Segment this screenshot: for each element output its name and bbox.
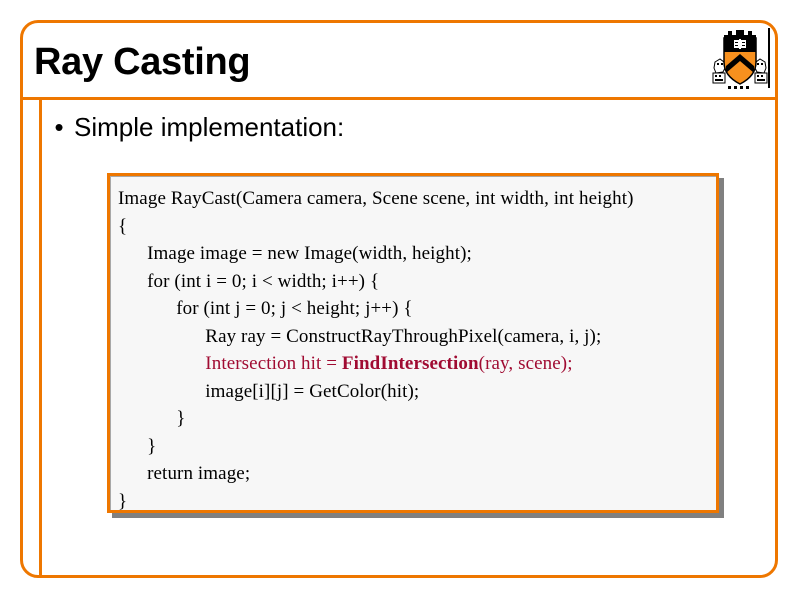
code-line: image[i][j] = GetColor(hit);: [118, 378, 710, 406]
code-line: return image;: [118, 460, 710, 488]
code-line: }: [118, 405, 710, 433]
code-block-inner: Image RayCast(Camera camera, Scene scene…: [110, 176, 716, 510]
code-line: for (int j = 0; j < height; j++) {: [118, 295, 710, 323]
code-line: }: [118, 488, 710, 514]
code-line: Ray ray = ConstructRayThroughPixel(camer…: [118, 323, 710, 351]
code-line: {: [118, 213, 710, 241]
princeton-shield-logo: [706, 26, 774, 94]
code-line: for (int i = 0; i < width; i++) {: [118, 268, 710, 296]
title-divider-rule: [21, 97, 777, 100]
slide: Ray Casting: [0, 0, 800, 600]
body-gutter-rule: [39, 100, 42, 576]
bullet-text: Simple implementation:: [74, 110, 344, 144]
code-line: Image RayCast(Camera camera, Scene scene…: [118, 185, 710, 213]
code-line-highlighted: Intersection hit = FindIntersection(ray,…: [118, 350, 710, 378]
bullet-marker-icon: •: [44, 110, 74, 144]
code-block: Image RayCast(Camera camera, Scene scene…: [107, 173, 719, 513]
page-title: Ray Casting: [34, 38, 250, 86]
code-emphasis: FindIntersection: [342, 353, 479, 374]
code-line: }: [118, 433, 710, 461]
list-item: • Simple implementation:: [44, 110, 724, 144]
code-line: Image image = new Image(width, height);: [118, 240, 710, 268]
